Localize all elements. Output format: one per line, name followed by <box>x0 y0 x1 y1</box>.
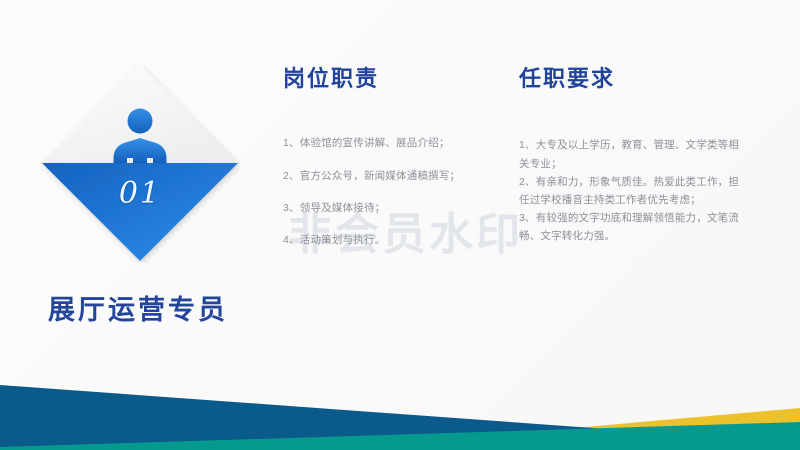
column-heading-duty: 岗位职责 <box>283 66 501 92</box>
duty-line: 2、官方公众号，新闻媒体通稿撰写； <box>283 169 501 184</box>
duty-line: 4、活动策划与执行。 <box>283 233 501 248</box>
requirement-line: 任过学校播音主持类工作者优先考虑； <box>519 193 781 208</box>
requirement-line: 3、有较强的文字功底和理解领悟能力，文笔流 <box>519 211 781 226</box>
requirement-line: 畅、文字转化力强。 <box>519 229 781 244</box>
requirement-line: 1、大专及以上学历，教育、管理、文学类等相 <box>519 138 781 153</box>
duty-line: 1、体验馆的宣传讲解、展品介绍； <box>283 136 501 151</box>
column-job-duty: 岗位职责 1、体验馆的宣传讲解、展品介绍； 2、官方公众号，新闻媒体通稿撰写； … <box>283 66 501 265</box>
teal-ribbon <box>0 422 800 450</box>
column-body-duty: 1、体验馆的宣传讲解、展品介绍； 2、官方公众号，新闻媒体通稿撰写； 3、领导及… <box>283 136 501 248</box>
role-title: 展厅运营专员 <box>48 288 228 327</box>
yellow-ribbon <box>437 408 800 450</box>
slide-canvas: 非会员水印 <box>0 0 800 450</box>
diamond-badge-shape <box>40 63 240 263</box>
dark-blue-ribbon <box>0 385 800 450</box>
column-heading-requirement: 任职要求 <box>519 66 781 92</box>
duty-line: 3、领导及媒体接待； <box>283 201 501 216</box>
column-requirement: 任职要求 1、大专及以上学历，教育、管理、文学类等相 关专业； 2、有亲和力，形… <box>519 66 781 248</box>
badge-number-label: 01 <box>40 176 240 211</box>
diamond-badge: 01 <box>40 63 240 263</box>
requirement-line: 2、有亲和力，形象气质佳。热爱此类工作，担 <box>519 175 781 190</box>
column-body-requirement: 1、大专及以上学历，教育、管理、文学类等相 关专业； 2、有亲和力，形象气质佳。… <box>519 138 781 244</box>
requirement-line: 关专业； <box>519 157 781 172</box>
